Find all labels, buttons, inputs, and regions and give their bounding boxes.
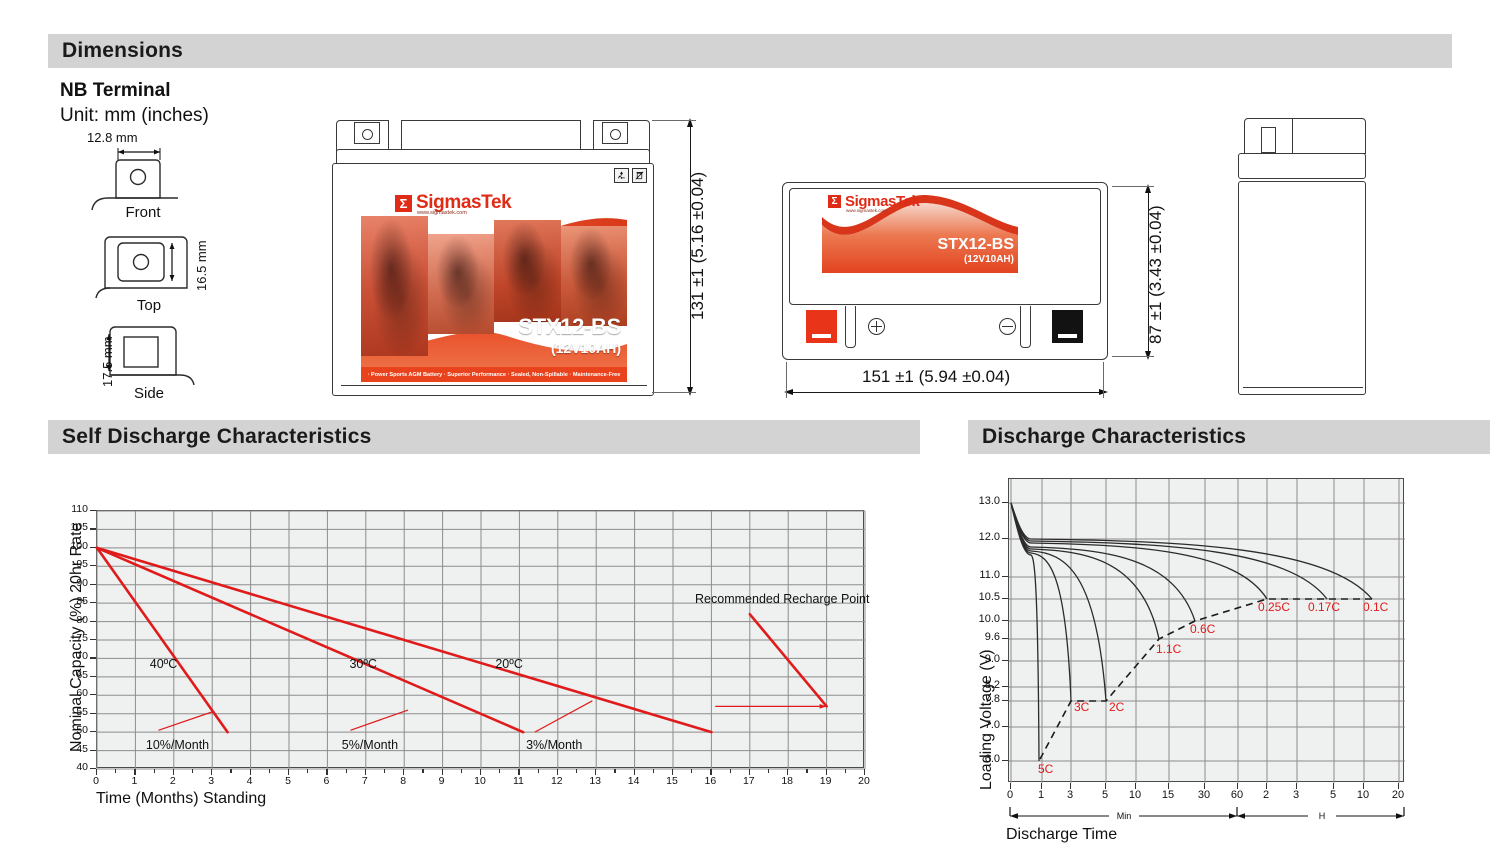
compliance-icons (614, 168, 647, 183)
battery-front-post-left (354, 122, 380, 144)
dc-x-tickmark (1204, 783, 1205, 789)
dc-x-tick: 1 (1027, 789, 1055, 801)
sd-x-tickmark (634, 769, 635, 775)
dc-y-tick: 12.0 (964, 531, 1000, 543)
dc-x-tick: 2 (1252, 789, 1280, 801)
terminal-label-top: Top (108, 297, 190, 314)
dc-x-tickmark (1168, 783, 1169, 789)
sd-x-tick: 12 (543, 775, 571, 787)
terminal-height-dim: 17.5 mm (100, 336, 115, 387)
sd-x-tickmark (826, 769, 827, 775)
terminal-label-front: Front (108, 204, 178, 221)
sd-plot-lines (97, 511, 865, 769)
sd-x-tickmark (787, 769, 788, 775)
terminal-label-side: Side (108, 385, 190, 402)
vent-slot-right (1020, 306, 1031, 348)
battery-side-top (1244, 118, 1366, 154)
sd-x-tickmark (864, 769, 865, 775)
sd-x-tickmark (403, 769, 404, 775)
sd-y-tickmark (90, 694, 96, 695)
dc-x-tick: 15 (1154, 789, 1182, 801)
section-title-dimensions: Dimensions (48, 39, 183, 63)
dc-x-tick: 3 (1282, 789, 1310, 801)
sd-x-tick: 4 (236, 775, 264, 787)
pad-bar (812, 334, 831, 338)
dc-y-tickmark (1002, 576, 1008, 577)
battery-front-post-right (602, 122, 628, 144)
dc-x-tick: 20 (1384, 789, 1412, 801)
dc-x-tick: 5 (1319, 789, 1347, 801)
sd-x-tickmark (595, 769, 596, 775)
sd-x-tickmark (518, 769, 519, 775)
dc-rate-label: 5C (1038, 762, 1053, 776)
dc-x-tickmark (1070, 783, 1071, 789)
nb-terminal-heading: NB Terminal (60, 80, 171, 102)
dc-x-tickmark (1010, 783, 1011, 789)
dc-y-tickmark (1002, 660, 1008, 661)
section-header-dimensions: Dimensions (48, 34, 1452, 68)
sd-y-tick: 40 (54, 761, 88, 773)
battery-model-block: STX12-BS (12V10AH) (518, 314, 621, 356)
photo-snowmobile (561, 226, 628, 326)
recycle-icon (614, 168, 629, 183)
section-title-self-discharge: Self Discharge Characteristics (48, 425, 371, 449)
weee-icon (632, 168, 647, 183)
dc-y-tick: 8.2 (964, 679, 1000, 691)
sd-y-tickmark (90, 510, 96, 511)
sd-x-minor-tickmark (845, 769, 846, 773)
sd-x-tickmark (173, 769, 174, 775)
sd-x-tickmark (749, 769, 750, 775)
dc-x-tick: 5 (1091, 789, 1119, 801)
sd-y-tickmark (90, 676, 96, 677)
positive-polarity-icon (868, 318, 885, 335)
sd-x-minor-tickmark (192, 769, 193, 773)
dc-y-tick: 9.0 (964, 653, 1000, 665)
sd-x-tick: 0 (82, 775, 110, 787)
battery-front-label-artwork: Σ SigmasTek www.sigmastek.com STX12-BS (… (361, 186, 627, 382)
dc-x-tickmark (1266, 783, 1267, 789)
sd-x-tickmark (326, 769, 327, 775)
sd-x-minor-tickmark (691, 769, 692, 773)
sd-x-tick: 2 (159, 775, 187, 787)
sd-x-tick: 8 (389, 775, 417, 787)
sd-x-tick: 14 (620, 775, 648, 787)
section-header-discharge: Discharge Characteristics (968, 420, 1490, 454)
dc-x-tick: 0 (996, 789, 1024, 801)
sd-x-minor-tickmark (461, 769, 462, 773)
dc-rate-label: 2C (1109, 700, 1124, 714)
svg-text:H: H (1319, 811, 1326, 821)
battery-side-body (1238, 181, 1366, 395)
sd-x-tickmark (96, 769, 97, 775)
terminal-front-view: 12.8 mm Front (60, 130, 260, 240)
sd-y-tickmark (90, 565, 96, 566)
photo-watercraft (428, 234, 495, 334)
dc-x-tickmark (1041, 783, 1042, 789)
datasheet-page: Dimensions NB Terminal Unit: mm (inches)… (0, 0, 1500, 856)
dc-y-tick: 10.0 (964, 613, 1000, 625)
dc-y-tickmark (1002, 502, 1008, 503)
sd-x-minor-tickmark (576, 769, 577, 773)
dc-y-tickmark (1002, 760, 1008, 761)
sd-x-minor-tickmark (154, 769, 155, 773)
sd-x-tickmark (442, 769, 443, 775)
sd-y-tick: 45 (54, 743, 88, 755)
dc-x-tickmark (1363, 783, 1364, 789)
terminal-front-drawing (60, 130, 260, 240)
sd-annotation: Recommended Recharge Point (695, 592, 869, 606)
unit-line: Unit: mm (inches) (60, 105, 209, 127)
dc-rate-label: 3C (1074, 700, 1089, 714)
terminal-side-view: 17.5 mm Side (60, 315, 260, 415)
sd-x-minor-tickmark (730, 769, 731, 773)
sd-x-tick: 3 (197, 775, 225, 787)
brand-url: www.sigmastek.com (417, 210, 467, 216)
post-hole-icon (362, 129, 373, 140)
sd-x-minor-tickmark (384, 769, 385, 773)
dc-x-tick: 10 (1121, 789, 1149, 801)
sd-y-tick: 50 (54, 724, 88, 736)
dc-x-tick: 10 (1349, 789, 1377, 801)
sd-y-tick: 75 (54, 632, 88, 644)
battery-side-view (1238, 118, 1366, 396)
battery-front-case: Σ SigmasTek www.sigmastek.com STX12-BS (… (332, 163, 654, 396)
sd-x-minor-tickmark (422, 769, 423, 773)
sd-y-tick: 85 (54, 595, 88, 607)
battery-spec: (12V10AH) (938, 254, 1014, 265)
dc-y-tickmark (1002, 638, 1008, 639)
svg-text:Min: Min (1117, 811, 1132, 821)
sd-x-minor-tickmark (653, 769, 654, 773)
sd-x-minor-tickmark (499, 769, 500, 773)
dc-rate-label: 0.25C (1258, 600, 1290, 614)
sd-x-tickmark (288, 769, 289, 775)
sd-annotation: 5%/Month (342, 738, 398, 752)
dc-y-tickmark (1002, 620, 1008, 621)
sd-x-minor-tickmark (115, 769, 116, 773)
sd-x-minor-tickmark (346, 769, 347, 773)
sd-y-tick: 65 (54, 669, 88, 681)
sd-x-axis-title: Time (Months) Standing (96, 790, 266, 808)
dc-x-tick: 60 (1223, 789, 1251, 801)
sd-x-tickmark (672, 769, 673, 775)
sd-x-tickmark (557, 769, 558, 775)
sd-x-tickmark (710, 769, 711, 775)
sd-x-tick: 20 (850, 775, 878, 787)
dc-y-tick: 11.0 (964, 569, 1000, 581)
dc-y-tickmark (1002, 598, 1008, 599)
sd-x-tick: 17 (735, 775, 763, 787)
dc-y-tick: 13.0 (964, 495, 1000, 507)
sd-x-tick: 10 (466, 775, 494, 787)
sd-annotation: 30ºC (349, 657, 377, 671)
sd-x-tick: 15 (658, 775, 686, 787)
dc-y-tickmark (1002, 700, 1008, 701)
battery-width-label: 87 ±1 (3.43 ±0.04) (1146, 205, 1166, 344)
sd-x-tick: 1 (120, 775, 148, 787)
battery-model: STX12-BS (518, 314, 621, 340)
section-title-discharge: Discharge Characteristics (968, 425, 1246, 449)
sd-x-minor-tickmark (806, 769, 807, 773)
pad-bar (1058, 334, 1077, 338)
sd-y-tick: 110 (54, 503, 88, 515)
sd-y-tickmark (90, 657, 96, 658)
dc-x-tick: 30 (1190, 789, 1218, 801)
battery-side-terminal-nub (1261, 127, 1276, 153)
battery-side-lid (1238, 153, 1366, 179)
sd-x-tick: 6 (312, 775, 340, 787)
battery-side-divider (1292, 119, 1293, 155)
terminal-depth-dim: 16.5 mm (194, 240, 209, 291)
sd-y-tick: 80 (54, 614, 88, 626)
sd-y-tick: 60 (54, 687, 88, 699)
top-model-block: STX12-BS (12V10AH) (938, 236, 1014, 265)
brand-url: www.sigmastek.com (846, 208, 887, 213)
label-feature-bar: · Power Sports AGM Battery · Superior Pe… (361, 367, 627, 382)
dc-rate-label: 0.17C (1308, 600, 1340, 614)
dc-x-axis-title: Discharge Time (1006, 826, 1117, 844)
dc-x-tickmark (1135, 783, 1136, 789)
sd-y-tick: 55 (54, 706, 88, 718)
sd-x-tick: 13 (581, 775, 609, 787)
dc-rate-label: 0.1C (1363, 600, 1388, 614)
sd-y-tickmark (90, 528, 96, 529)
self-discharge-chart (96, 510, 864, 768)
sd-y-tickmark (90, 731, 96, 732)
sd-x-minor-tickmark (307, 769, 308, 773)
sd-y-tick: 90 (54, 577, 88, 589)
dc-x-tickmark (1333, 783, 1334, 789)
dc-y-tickmark (1002, 538, 1008, 539)
sd-y-tick: 95 (54, 558, 88, 570)
dc-x-tickmark (1398, 783, 1399, 789)
sd-y-tickmark (90, 750, 96, 751)
dc-rate-label: 0.6C (1190, 622, 1215, 636)
post-hole-icon (610, 129, 621, 140)
sd-x-minor-tickmark (614, 769, 615, 773)
sd-y-tickmark (90, 621, 96, 622)
dc-y-tick: 7.8 (964, 693, 1000, 705)
sd-annotation: 3%/Month (526, 738, 582, 752)
dc-y-tickmark (1002, 686, 1008, 687)
battery-front-view: Σ SigmasTek www.sigmastek.com STX12-BS (… (332, 116, 654, 396)
sd-x-tick: 5 (274, 775, 302, 787)
battery-front-base (341, 385, 647, 394)
sd-x-minor-tickmark (269, 769, 270, 773)
vent-slot-left (845, 306, 856, 348)
battery-top-view: Σ SigmasTek www.sigmastek.com STX12-BS (… (782, 182, 1108, 360)
photo-dirtbike (361, 216, 428, 356)
terminal-width-dim: 12.8 mm (87, 130, 138, 145)
negative-terminal-pad (1052, 310, 1083, 343)
sd-x-tick: 9 (428, 775, 456, 787)
sd-y-tickmark (90, 713, 96, 714)
sd-x-tick: 7 (351, 775, 379, 787)
sd-x-tickmark (365, 769, 366, 775)
dc-y-tick: 10.5 (964, 591, 1000, 603)
battery-model: STX12-BS (938, 236, 1014, 254)
dc-x-tick: 3 (1056, 789, 1084, 801)
dc-x-tickmark (1237, 783, 1238, 789)
sd-x-tick: 18 (773, 775, 801, 787)
label-features: · Power Sports AGM Battery · Superior Pe… (368, 372, 621, 378)
sd-y-tickmark (90, 547, 96, 548)
battery-spec: (12V10AH) (518, 340, 621, 356)
sd-x-tick: 16 (696, 775, 724, 787)
battery-length-label: 151 ±1 (5.94 ±0.04) (862, 367, 1010, 387)
sd-x-tickmark (211, 769, 212, 775)
sd-x-minor-tickmark (768, 769, 769, 773)
dc-y-tick: 7.0 (964, 719, 1000, 731)
section-header-self-discharge: Self Discharge Characteristics (48, 420, 920, 454)
sd-y-tick: 100 (54, 540, 88, 552)
dc-y-tick: 6.0 (964, 753, 1000, 765)
sd-annotation: 20ºC (495, 657, 523, 671)
terminal-top-view: 16.5 mm Top (60, 225, 260, 325)
photo-atv (494, 220, 561, 322)
sd-y-tickmark (90, 602, 96, 603)
sd-x-tick: 19 (812, 775, 840, 787)
sd-annotation: 10%/Month (146, 738, 209, 752)
sd-x-tickmark (134, 769, 135, 775)
sd-y-tickmark (90, 584, 96, 585)
sd-annotation: 40ºC (150, 657, 178, 671)
sd-x-tickmark (250, 769, 251, 775)
sd-y-tick: 70 (54, 650, 88, 662)
sd-x-minor-tickmark (230, 769, 231, 773)
sd-x-tick: 11 (504, 775, 532, 787)
dc-x-tickmark (1296, 783, 1297, 789)
battery-top-label-artwork: Σ SigmasTek www.sigmastek.com STX12-BS (… (822, 191, 1018, 273)
dc-y-tickmark (1002, 726, 1008, 727)
sd-x-minor-tickmark (538, 769, 539, 773)
dc-rate-label: 1.1C (1156, 642, 1181, 656)
sd-y-tick: 105 (54, 521, 88, 533)
dc-x-tickmark (1105, 783, 1106, 789)
positive-terminal-pad (806, 310, 837, 343)
sigma-mark-icon: Σ (828, 195, 841, 208)
battery-front-notch-left (388, 120, 402, 150)
sd-y-tickmark (90, 639, 96, 640)
dc-y-tick: 9.6 (964, 631, 1000, 643)
sd-x-tickmark (480, 769, 481, 775)
sigma-mark-icon: Σ (395, 195, 412, 212)
battery-front-notch-right (580, 120, 594, 150)
negative-polarity-icon (999, 318, 1016, 335)
battery-height-label: 131 ±1 (5.16 ±0.04) (688, 172, 708, 320)
battery-side-footline (1243, 387, 1363, 388)
